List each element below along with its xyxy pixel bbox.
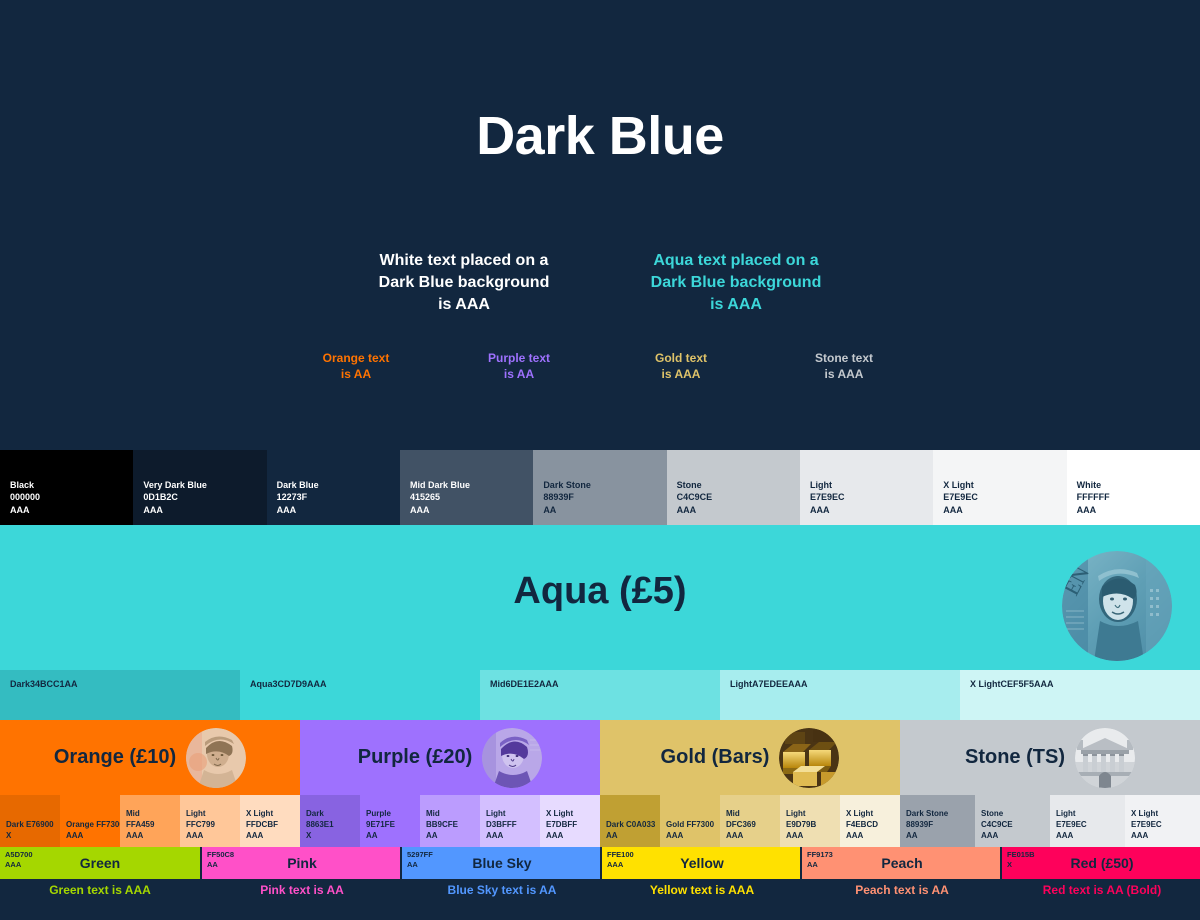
swatch-rating: AAA: [143, 504, 256, 517]
colour-swatch[interactable]: MidFFA459AAA: [120, 795, 180, 847]
swatch-hex: 34BCC1: [30, 679, 65, 689]
dark-blue-hero-section: Dark Blue White text placed on a Dark Bl…: [0, 0, 1200, 450]
colour-swatch[interactable]: LightD3BFFFAAA: [480, 795, 540, 847]
swatch-hex: 88939F: [543, 491, 656, 504]
swatch-rating: AAA: [5, 860, 33, 870]
accent-meta: FF9173AA: [807, 850, 833, 870]
swatch-name: Dark Blue: [277, 479, 390, 492]
colour-swatch[interactable]: MidDFC369AAA: [720, 795, 780, 847]
swatch-name: Stone: [677, 479, 790, 492]
colour-swatch[interactable]: StoneC4C9CEAAA: [667, 450, 800, 525]
swatch-rating: AAA: [539, 679, 559, 689]
swatch-rating: AAA: [246, 830, 294, 841]
swatch-name: Purple: [366, 808, 414, 819]
swatch-hex: CEF5F5: [1001, 679, 1035, 689]
colour-swatch[interactable]: Mid6DE1E2AAA: [480, 670, 720, 720]
text-sample-stone-line1: Stone text: [764, 350, 924, 366]
swatch-rating: AAA: [486, 830, 534, 841]
swatch-rating: AAA: [846, 830, 894, 841]
colour-swatch[interactable]: LightA7EDEEAAA: [720, 670, 960, 720]
neutral-swatch-row: Black000000AAAVery Dark Blue0D1B2CAAADar…: [0, 450, 1200, 525]
brand-section-headers: Orange (£10) Purple (£20) Gold (Bars): [0, 720, 1200, 795]
colour-swatch[interactable]: Aqua3CD7D9AAA: [240, 670, 480, 720]
text-sample-gold-line2: is AAA: [601, 366, 761, 382]
swatch-name: Aqua: [250, 679, 273, 689]
colour-swatch[interactable]: Dark8863E1X: [300, 795, 360, 847]
swatch-hex: E7E9EC: [1056, 819, 1119, 830]
accent-swatch[interactable]: 5297FFAABlue Sky: [402, 847, 602, 879]
colour-swatch[interactable]: LightE7E9ECAAA: [800, 450, 933, 525]
swatch-rating: AA: [366, 830, 414, 841]
swatch-rating: AAA: [186, 830, 234, 841]
swatch-hex: 6DE1E2: [506, 679, 540, 689]
colour-swatch[interactable]: Mid Dark Blue415265AAA: [400, 450, 533, 525]
swatch-hex: A7EDEE: [752, 679, 788, 689]
accent-colour-cell[interactable]: FE015BXRed (£50)Red text is AA (Bold): [1000, 847, 1200, 901]
swatch-name-hex: Dark E76900: [6, 819, 54, 830]
swatch-hex: FFFFFF: [1077, 491, 1190, 504]
swatch-hex: FFC799: [186, 819, 234, 830]
swatch-hex: 3CD7D9: [273, 679, 308, 689]
colour-swatch[interactable]: Dark34BCC1AA: [0, 670, 240, 720]
accent-meta: FFE100AAA: [607, 850, 634, 870]
swatch-hex: C4C9CE: [981, 819, 1044, 830]
swatch-name: X Light: [1131, 808, 1194, 819]
accent-meta: 5297FFAA: [407, 850, 433, 870]
colour-swatch[interactable]: X LightE7DBFFAAA: [540, 795, 600, 847]
accent-name: Green: [80, 855, 120, 871]
swatch-hex: BB9CFE: [426, 819, 474, 830]
brand-section-swatch-rows: Dark E76900XOrange FF7300AAAMidFFA459AAA…: [0, 795, 1200, 847]
brand-section-header: Stone (TS): [900, 720, 1200, 795]
text-sample-aqua: Aqua text placed on a Dark Blue backgrou…: [586, 250, 886, 316]
colour-swatch[interactable]: LightE9D79BAAA: [780, 795, 840, 847]
swatch-rating: AA: [543, 504, 656, 517]
swatch-name: X Light: [970, 679, 1001, 689]
swatch-hex: E7E9EC: [943, 491, 1056, 504]
accent-colour-cell[interactable]: FF50C8AAPinkPink text is AA: [200, 847, 400, 901]
swatch-hex: C4C9CE: [677, 491, 790, 504]
swatch-name: Light: [786, 808, 834, 819]
gold-bars-image: [779, 728, 839, 788]
swatch-hex: E7DBFF: [546, 819, 594, 830]
swatch-rating: AA: [426, 830, 474, 841]
swatch-rating: AAA: [788, 679, 808, 689]
swatch-hex: 12273F: [277, 491, 390, 504]
swatch-name-hex: Gold FF7300: [666, 819, 714, 830]
text-sample-gold-line1: Gold text: [601, 350, 761, 366]
text-sample-orange-line2: is AA: [276, 366, 436, 382]
swatch-name: Light: [186, 808, 234, 819]
swatch-hex: FFDCBF: [246, 819, 294, 830]
accent-proof-text: Green text is AAA: [0, 879, 200, 901]
brand-section-header: Gold (Bars): [600, 720, 900, 795]
swatch-name: Mid Dark Blue: [410, 479, 523, 492]
swatch-name: X Light: [546, 808, 594, 819]
swatch-name: Mid: [126, 808, 174, 819]
swatch-hex: D3BFFF: [486, 819, 534, 830]
accent-proof-text: Blue Sky text is AA: [402, 879, 602, 901]
aqua-section-title: Aqua (£5): [0, 570, 1200, 613]
swatch-name: Light: [810, 479, 923, 492]
swatch-rating: AAA: [666, 830, 714, 841]
swatch-name: Black: [10, 479, 123, 492]
text-sample-white-line1: White text placed on a: [314, 250, 614, 272]
swatch-rating: AAA: [10, 504, 123, 517]
swatch-hex: 000000: [10, 491, 123, 504]
swatch-hex: FF9173: [807, 850, 833, 860]
accent-swatch[interactable]: FFE100AAAYellow: [602, 847, 802, 879]
swatch-name: X Light: [246, 808, 294, 819]
colour-swatch[interactable]: Dark C0A033AA: [600, 795, 660, 847]
swatch-name: Mid: [490, 679, 506, 689]
swatch-hex: 88939F: [906, 819, 969, 830]
five-pound-note-image: EN: [1062, 551, 1172, 661]
swatch-name: X Light: [943, 479, 1056, 492]
swatch-rating: AA: [606, 830, 654, 841]
swatch-hex: DFC369: [726, 819, 774, 830]
swatch-rating: AA: [906, 830, 969, 841]
text-sample-stone-line2: is AAA: [764, 366, 924, 382]
text-sample-gold: Gold text is AAA: [601, 350, 761, 382]
accent-name: Pink: [287, 855, 317, 871]
swatch-name: Light: [730, 679, 752, 689]
accent-meta: FF50C8AA: [207, 850, 234, 870]
swatch-name: Dark Stone: [906, 808, 969, 819]
colour-swatch[interactable]: Dark Stone88939FAA: [900, 795, 975, 847]
colour-swatch[interactable]: Dark E76900X: [0, 795, 60, 847]
swatch-rating: AA: [65, 679, 78, 689]
swatch-rating: X: [6, 830, 54, 841]
colour-swatch[interactable]: StoneC4C9CEAAA: [975, 795, 1050, 847]
swatch-name: X Light: [846, 808, 894, 819]
accent-proof-text: Red text is AA (Bold): [1002, 879, 1200, 901]
swatch-rating: AA: [207, 860, 234, 870]
colour-swatch[interactable]: Dark Stone88939FAA: [533, 450, 666, 525]
brand-swatch-group: Dark E76900XOrange FF7300AAAMidFFA459AAA…: [0, 795, 300, 847]
accent-proof-text: Peach text is AA: [802, 879, 1002, 901]
swatch-rating: AAA: [410, 504, 523, 517]
accent-colour-cell[interactable]: A5D700AAAGreenGreen text is AAA: [0, 847, 200, 901]
swatch-rating: AAA: [546, 830, 594, 841]
swatch-hex: A5D700: [5, 850, 33, 860]
colour-swatch[interactable]: LightE7E9ECAAA: [1050, 795, 1125, 847]
accent-meta: A5D700AAA: [5, 850, 33, 870]
swatch-hex: E9D79B: [786, 819, 834, 830]
swatch-rating: AAA: [1131, 830, 1194, 841]
swatch-hex: 0D1B2C: [143, 491, 256, 504]
swatch-rating: AAA: [981, 830, 1044, 841]
swatch-name: Light: [486, 808, 534, 819]
swatch-hex: FFA459: [126, 819, 174, 830]
ten-pound-note-portrait-image: [186, 728, 246, 788]
twenty-pound-note-portrait-image: [482, 728, 542, 788]
text-sample-orange: Orange text is AA: [276, 350, 436, 382]
swatch-rating: AAA: [277, 504, 390, 517]
accent-meta: FE015BX: [1007, 850, 1035, 870]
text-sample-white: White text placed on a Dark Blue backgro…: [314, 250, 614, 316]
accent-name: Yellow: [680, 855, 724, 871]
page-title: Dark Blue: [0, 105, 1200, 167]
colour-swatch[interactable]: Purple9E71FEAA: [360, 795, 420, 847]
swatch-rating: AA: [807, 860, 833, 870]
text-sample-purple-line1: Purple text: [439, 350, 599, 366]
swatch-name: White: [1077, 479, 1190, 492]
text-sample-orange-line1: Orange text: [276, 350, 436, 366]
swatch-hex: FE015B: [1007, 850, 1035, 860]
colour-swatch[interactable]: WhiteFFFFFFAAA: [1067, 450, 1200, 525]
text-sample-aqua-line3: is AAA: [586, 294, 886, 316]
swatch-name-hex: Orange FF7300: [66, 819, 114, 830]
colour-swatch[interactable]: Dark Blue12273FAAA: [267, 450, 400, 525]
accent-swatch[interactable]: FE015BXRed (£50): [1002, 847, 1200, 879]
brand-swatch-group: Dark C0A033AAGold FF7300AAAMidDFC369AAAL…: [600, 795, 900, 847]
swatch-rating: AAA: [607, 860, 634, 870]
aqua-swatch-row: Dark34BCC1AAAqua3CD7D9AAAMid6DE1E2AAALig…: [0, 670, 1200, 720]
swatch-hex: E7E9EC: [810, 491, 923, 504]
swatch-name: Dark: [10, 679, 30, 689]
brand-section-title: Orange (£10): [54, 746, 176, 769]
text-sample-white-line2: Dark Blue background: [314, 272, 614, 294]
brand-section-header: Orange (£10): [0, 720, 300, 795]
colour-swatch[interactable]: LightFFC799AAA: [180, 795, 240, 847]
colour-swatch[interactable]: Orange FF7300AAA: [60, 795, 120, 847]
text-sample-purple-line2: is AA: [439, 366, 599, 382]
accent-proof-text: Pink text is AA: [202, 879, 402, 901]
colour-swatch[interactable]: Black000000AAA: [0, 450, 133, 525]
brand-swatch-group: Dark8863E1XPurple9E71FEAAMidBB9CFEAALigh…: [300, 795, 600, 847]
text-sample-aqua-line2: Dark Blue background: [586, 272, 886, 294]
text-sample-stone: Stone text is AAA: [764, 350, 924, 382]
accent-name: Peach: [881, 855, 922, 871]
swatch-rating: AAA: [810, 504, 923, 517]
accent-colour-row: A5D700AAAGreenGreen text is AAAFF50C8AAP…: [0, 847, 1200, 901]
text-sample-purple: Purple text is AA: [439, 350, 599, 382]
swatch-hex: E7E9EC: [1131, 819, 1194, 830]
swatch-rating: AAA: [677, 504, 790, 517]
swatch-rating: AAA: [726, 830, 774, 841]
colour-swatch[interactable]: Very Dark Blue0D1B2CAAA: [133, 450, 266, 525]
text-sample-white-line3: is AAA: [314, 294, 614, 316]
swatch-rating: AAA: [126, 830, 174, 841]
swatch-rating: AAA: [1034, 679, 1054, 689]
accent-colour-cell[interactable]: FFE100AAAYellowYellow text is AAA: [600, 847, 800, 901]
swatch-rating: AAA: [786, 830, 834, 841]
brand-section-header: Purple (£20): [300, 720, 600, 795]
colour-swatch[interactable]: X LightCEF5F5AAA: [960, 670, 1200, 720]
colour-swatch[interactable]: X LightE7E9ECAAA: [933, 450, 1066, 525]
swatch-hex: 415265: [410, 491, 523, 504]
threadneedle-street-building-image: [1075, 728, 1135, 788]
swatch-name: Dark Stone: [543, 479, 656, 492]
swatch-rating: AAA: [943, 504, 1056, 517]
accent-name: Blue Sky: [472, 855, 531, 871]
accent-colour-cell[interactable]: 5297FFAABlue SkyBlue Sky text is AA: [400, 847, 600, 901]
colour-swatch[interactable]: X LightFFDCBFAAA: [240, 795, 300, 847]
brand-section-title: Stone (TS): [965, 746, 1065, 769]
swatch-name: Very Dark Blue: [143, 479, 256, 492]
swatch-rating: AAA: [1077, 504, 1190, 517]
swatch-rating: AAA: [66, 830, 114, 841]
swatch-hex: 5297FF: [407, 850, 433, 860]
colour-swatch[interactable]: Gold FF7300AAA: [660, 795, 720, 847]
brand-section-title: Gold (Bars): [661, 746, 770, 769]
swatch-rating: AA: [407, 860, 433, 870]
swatch-hex: 8863E1: [306, 819, 354, 830]
aqua-section-header: Aqua (£5) EN: [0, 525, 1200, 670]
colour-swatch[interactable]: X LightE7E9ECAAA: [1125, 795, 1200, 847]
colour-swatch[interactable]: MidBB9CFEAA: [420, 795, 480, 847]
swatch-name: Stone: [981, 808, 1044, 819]
accent-swatch[interactable]: A5D700AAAGreen: [0, 847, 200, 879]
brand-section-title: Purple (£20): [358, 746, 472, 769]
brand-swatch-group: Dark Stone88939FAAStoneC4C9CEAAALightE7E…: [900, 795, 1200, 847]
accent-proof-text: Yellow text is AAA: [602, 879, 802, 901]
swatch-name: Mid: [726, 808, 774, 819]
swatch-rating: X: [1007, 860, 1035, 870]
accent-name: Red (£50): [1070, 855, 1133, 871]
swatch-hex: FFE100: [607, 850, 634, 860]
swatch-hex: 9E71FE: [366, 819, 414, 830]
colour-swatch[interactable]: X LightF4EBCDAAA: [840, 795, 900, 847]
swatch-hex: F4EBCD: [846, 819, 894, 830]
swatch-rating: AAA: [307, 679, 327, 689]
swatch-name: Dark: [306, 808, 354, 819]
swatch-name: Light: [1056, 808, 1119, 819]
swatch-hex: FF50C8: [207, 850, 234, 860]
swatch-name-hex: Dark C0A033: [606, 819, 654, 830]
accent-swatch[interactable]: FF50C8AAPink: [202, 847, 402, 879]
text-sample-aqua-line1: Aqua text placed on a: [586, 250, 886, 272]
accent-swatch[interactable]: FF9173AAPeach: [802, 847, 1002, 879]
accent-colour-cell[interactable]: FF9173AAPeachPeach text is AA: [800, 847, 1000, 901]
swatch-rating: X: [306, 830, 354, 841]
swatch-name: Mid: [426, 808, 474, 819]
swatch-rating: AAA: [1056, 830, 1119, 841]
